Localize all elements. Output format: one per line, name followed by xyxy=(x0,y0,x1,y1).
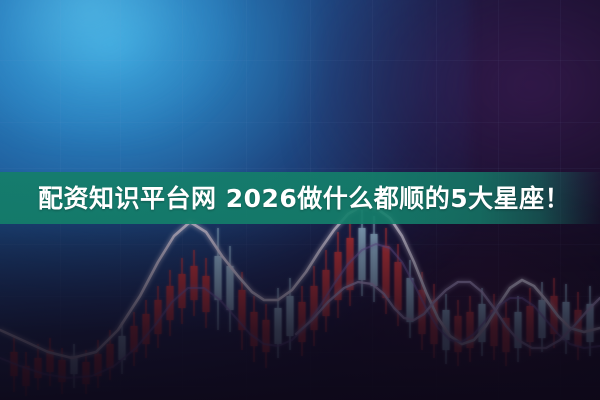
screenshot-canvas: 配资知识平台网 2026做什么都顺的5大星座！ xyxy=(0,0,600,400)
headline-banner: 配资知识平台网 2026做什么都顺的5大星座！ xyxy=(0,172,600,224)
banner-text: 配资知识平台网 2026做什么都顺的5大星座！ xyxy=(38,186,570,211)
